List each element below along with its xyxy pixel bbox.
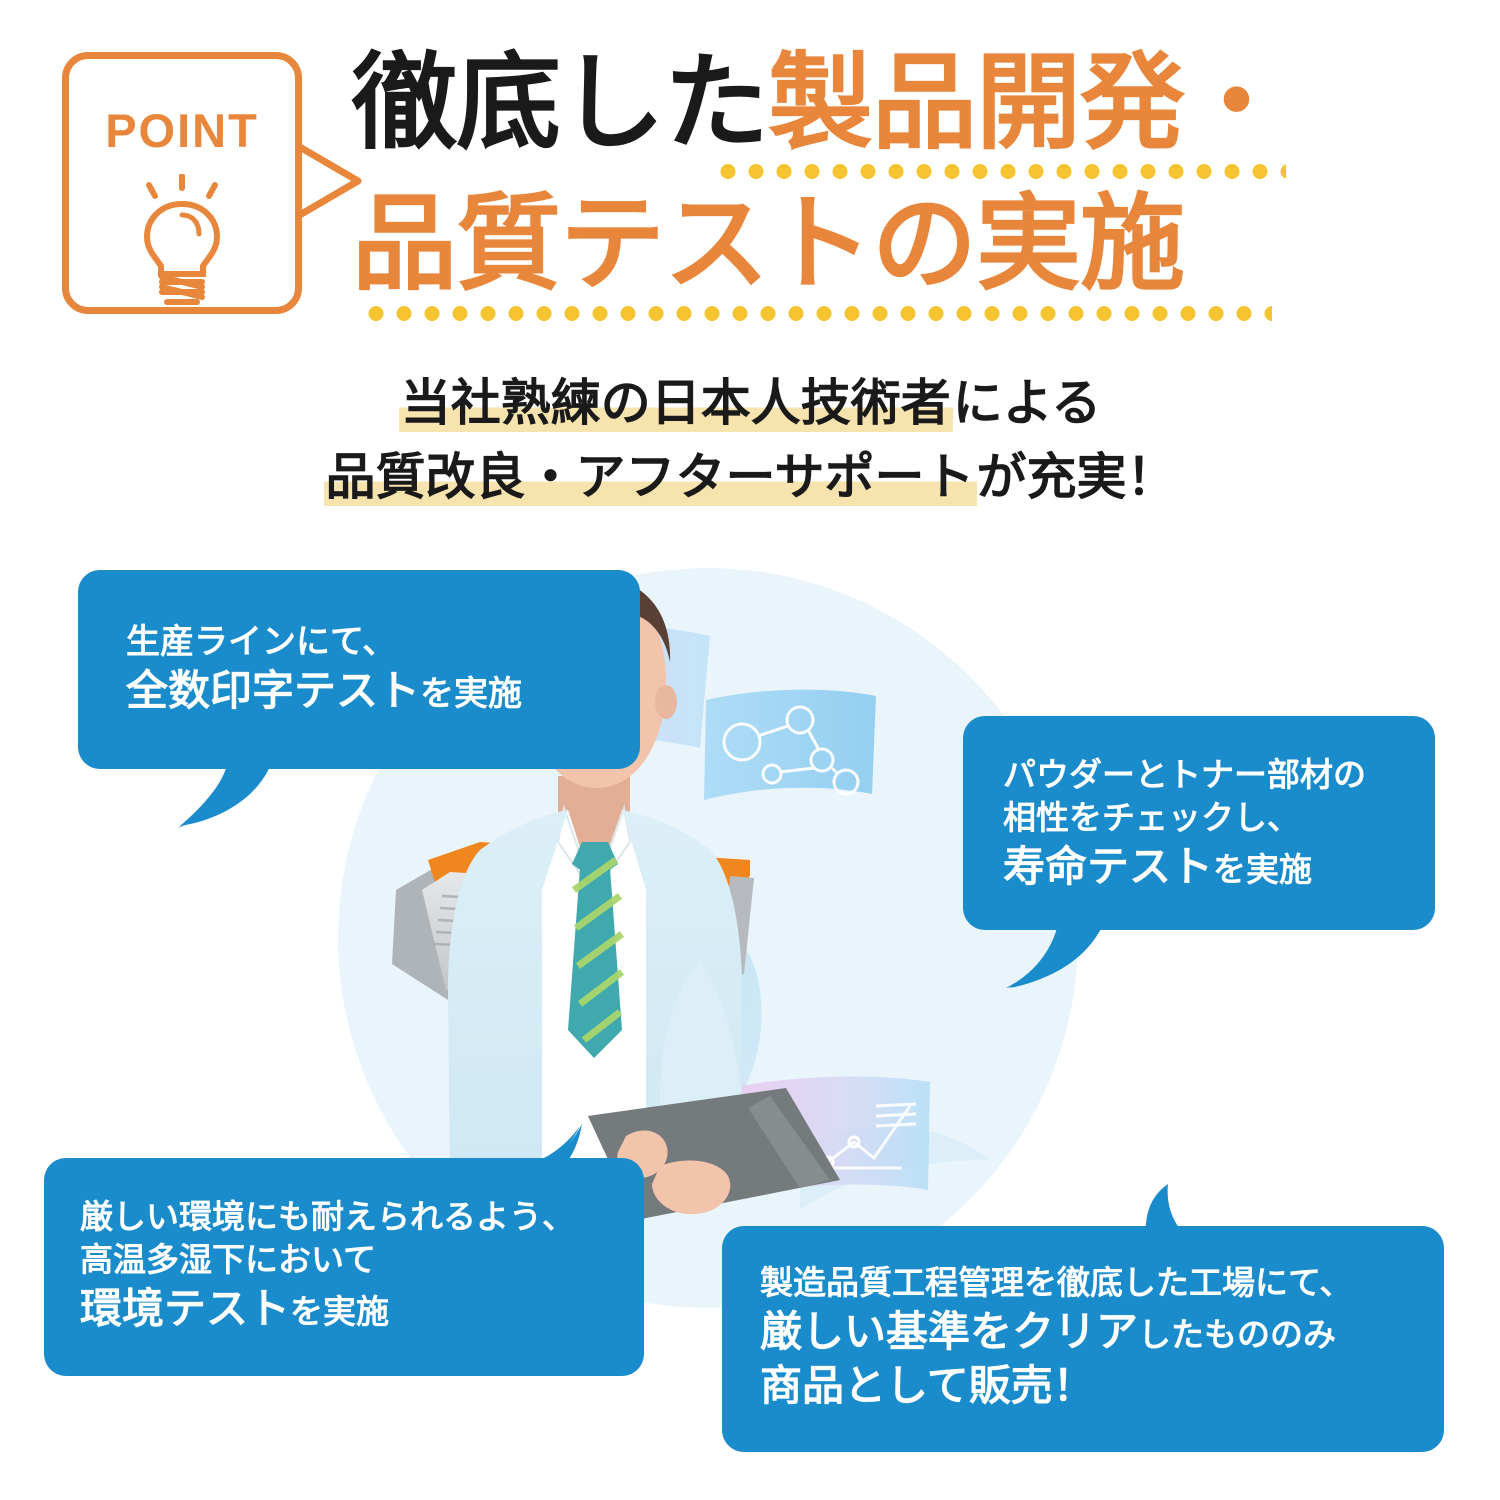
bubble1-line2: 全数印字テストを実施: [126, 664, 640, 719]
bubble3-emphasis: 環境テスト: [80, 1284, 290, 1333]
bubble4-line2: 厳しい基準をクリアしたもののみ: [760, 1305, 1444, 1360]
speech-bubble-life-test-tail-icon: [1006, 916, 1116, 995]
infographic-canvas: POINT: [0, 0, 1500, 1500]
title-line-2: 品質テストの実施: [352, 189, 1412, 300]
bubble2-suffix: を実施: [1213, 850, 1312, 889]
bubble3-suffix: を実施: [290, 1292, 389, 1331]
bubble2-emphasis: 寿命テスト: [1003, 842, 1213, 891]
bubble3-line3: 環境テストを実施: [80, 1282, 644, 1337]
speech-bubble-print-test-tail-icon: [178, 756, 298, 835]
bubble1-line1: 生産ラインにて、: [126, 620, 640, 664]
title-orange-part-1: 製品開発・: [768, 42, 1288, 164]
bubble2-line3: 寿命テストを実施: [1003, 840, 1435, 895]
point-badge-label: POINT: [105, 103, 259, 158]
bubble4-line1: 製造品質工程管理を徹底した工場にて、: [760, 1262, 1444, 1305]
bubble1-emphasis: 全数印字テスト: [126, 666, 420, 715]
title-line-1: 徹底した製品開発・: [352, 48, 1412, 159]
subtitle-highlight-2: 品質改良・アフターサポート: [324, 448, 977, 506]
molecule-panel: [704, 690, 876, 800]
speech-bubble-print-test[interactable]: 生産ラインにて、 全数印字テストを実施: [78, 570, 640, 769]
subtitle-line-1: 当社熟練の日本人技術者による: [0, 366, 1500, 440]
bubble2-line1: パウダーとトナー部材の: [1003, 754, 1435, 797]
bubble4-emphasis-2: 商品として販売！: [760, 1359, 1444, 1414]
point-badge-tail-icon: [296, 116, 386, 251]
title-black-part: 徹底した: [352, 42, 768, 164]
speech-bubble-environment-test-tail-icon: [502, 1124, 628, 1191]
subtitle-highlight-1: 当社熟練の日本人技術者: [399, 374, 953, 432]
speech-bubble-life-test[interactable]: パウダーとトナー部材の 相性をチェックし、 寿命テストを実施: [963, 716, 1435, 930]
speech-bubble-quality-standard-tail-icon: [1128, 1182, 1248, 1247]
title-orange-part-2: 品質テストの実施: [352, 183, 1184, 305]
title-dotted-underline-1: [714, 164, 1286, 179]
subtitle-plain-2: が充実！: [977, 448, 1177, 506]
bubble4-suffix: したもののみ: [1138, 1315, 1336, 1354]
subtitle: 当社熟練の日本人技術者による 品質改良・アフターサポートが充実！: [0, 366, 1500, 514]
speech-bubble-quality-standard[interactable]: 製造品質工程管理を徹底した工場にて、 厳しい基準をクリアしたもののみ 商品として…: [722, 1226, 1444, 1452]
lightbulb-icon: [123, 174, 241, 315]
subtitle-plain-1: による: [953, 374, 1102, 432]
title-dotted-underline-2: [362, 306, 1272, 321]
bubble1-suffix: を実施: [420, 674, 522, 714]
page-title: 徹底した製品開発・ 品質テストの実施: [352, 48, 1412, 321]
bubble4-emphasis-1: 厳しい基準をクリア: [760, 1307, 1138, 1356]
bubble3-line2: 高温多湿下において: [80, 1239, 644, 1282]
subtitle-line-2: 品質改良・アフターサポートが充実！: [0, 440, 1500, 514]
bubble3-line1: 厳しい環境にも耐えられるよう、: [80, 1196, 644, 1239]
bubble2-line2: 相性をチェックし、: [1003, 797, 1435, 840]
point-badge: POINT: [62, 52, 302, 314]
